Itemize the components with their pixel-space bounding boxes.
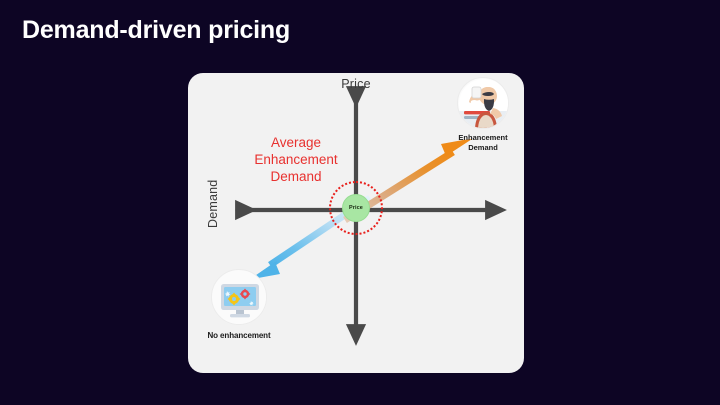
- barber-craftsman-icon: [457, 77, 509, 129]
- enhancement-label-line-1: Enhancement: [443, 133, 523, 143]
- no-enhancement-cluster: No enhancement: [190, 269, 288, 340]
- average-enhancement-demand-note: Average Enhancement Demand: [226, 134, 366, 185]
- price-origin-node: Price: [342, 194, 370, 222]
- enhancement-demand-cluster: Enhancement Demand: [443, 77, 523, 153]
- demand-axis-label: Demand: [206, 180, 220, 228]
- slide-root: Demand-driven pricing: [0, 0, 720, 405]
- page-title: Demand-driven pricing: [22, 16, 290, 45]
- price-node-label: Price: [349, 205, 363, 211]
- no-enhancement-label: No enhancement: [190, 331, 288, 340]
- enhancement-label-line-2: Demand: [443, 143, 523, 153]
- annotation-line-2: Enhancement: [226, 151, 366, 168]
- monitor-gears-icon: [211, 269, 267, 325]
- diagram-card: Price Demand Average Enhancement Demand …: [188, 73, 524, 373]
- annotation-line-1: Average: [226, 134, 366, 151]
- enhancement-demand-label: Enhancement Demand: [443, 133, 523, 153]
